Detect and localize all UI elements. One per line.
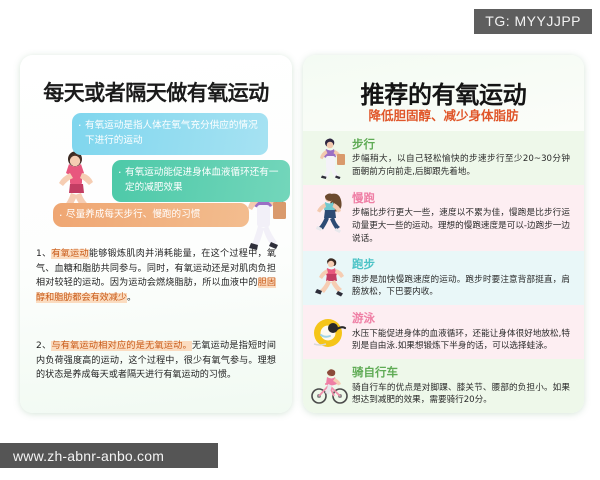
- right-card-subtitle: 降低胆固醇、减少身体脂肪: [303, 105, 584, 124]
- body-text: 。: [127, 293, 136, 303]
- exercise-name: 步行: [352, 138, 574, 151]
- exercise-item[interactable]: 游泳水压下能促进身体的血液循环，还能让身体很好地放松,特别是自由泳.如果想锻炼下…: [303, 305, 584, 359]
- exercise-text-block: 跑步跑步是加快慢跑速度的运动。跑步时要注意背部挺直，肩膀放松，下巴要内收。: [352, 257, 574, 299]
- exercise-description: 骑自行车的优点是对脚踝、膝关节、腰部的负担小。如果想达到减肥的效果，需要骑行20…: [352, 382, 574, 407]
- right-recommendation-card: 推荐的有氧运动 降低胆固醇、减少身体脂肪 步行步幅稍大，以自己轻松愉快的步速步行…: [303, 55, 584, 413]
- paragraph-number: 2、: [36, 341, 51, 351]
- exercise-item[interactable]: 跑步跑步是加快慢跑速度的运动。跑步时要注意背部挺直，肩膀放松，下巴要内收。: [303, 251, 584, 305]
- infographic-canvas: TG: MYYJJPP 每天或者隔天做有氧运动: [0, 0, 600, 480]
- exercise-text-block: 游泳水压下能促进身体的血液循环，还能让身体很好地放松,特别是自由泳.如果想锻炼下…: [352, 311, 574, 353]
- exercise-name: 慢跑: [352, 192, 574, 205]
- exercise-name: 骑自行车: [352, 366, 574, 379]
- exercise-name: 游泳: [352, 312, 574, 325]
- telegram-watermark: TG: MYYJJPP: [474, 9, 592, 34]
- left-card-title: 每天或者隔天做有氧运动: [20, 77, 292, 107]
- walking-icon: [311, 137, 349, 179]
- exercise-description: 跑步是加快慢跑速度的运动。跑步时要注意背部挺直，肩膀放松，下巴要内收。: [352, 274, 574, 299]
- jogging-icon: [311, 191, 349, 233]
- exercise-list: 步行步幅稍大，以自己轻松愉快的步速步行至少20~30分钟面朝前方向前走,后脚跟先…: [303, 131, 584, 413]
- exercise-text-block: 步行步幅稍大，以自己轻松愉快的步速步行至少20~30分钟面朝前方向前走,后脚跟先…: [352, 137, 574, 179]
- exercise-text-block: 慢跑步幅比步行更大一些，速度以不累为佳，慢跑是比步行运动量更大一些的运动。理想的…: [352, 191, 574, 245]
- exercise-text-block: 骑自行车骑自行车的优点是对脚踝、膝关节、腰部的负担小。如果想达到减肥的效果，需要…: [352, 365, 574, 407]
- highlighted-text: 与有氧运动相对应的是无氧运动。: [51, 341, 192, 351]
- bubble-aerobic-definition: 有氧运动是指人体在氧气充分供应的情况下进行的运动: [72, 113, 268, 155]
- bubble-circulation: 有氧运动能促进身体血液循环还有一定的减肥效果: [112, 160, 290, 202]
- site-url-watermark: www.zh-abnr-anbo.com: [0, 443, 218, 468]
- exercise-description: 步幅稍大，以自己轻松愉快的步速步行至少20~30分钟面朝前方向前走,后脚跟先着地…: [352, 153, 574, 178]
- exercise-item[interactable]: 骑自行车骑自行车的优点是对脚踝、膝关节、腰部的负担小。如果想达到减肥的效果，需要…: [303, 359, 584, 413]
- paragraph-anaerobic-contrast: 2、与有氧运动相对应的是无氧运动。无氧运动是指短时间内负荷强度高的运动，这个过程…: [36, 339, 276, 383]
- paragraph-number: 1、: [36, 249, 51, 259]
- cycling-icon: [311, 365, 349, 407]
- highlighted-text: 有氧运动: [51, 249, 88, 259]
- exercise-description: 步幅比步行更大一些，速度以不累为佳，慢跑是比步行运动量更大一些的运动。理想的慢跑…: [352, 207, 574, 245]
- exercise-description: 水压下能促进身体的血液循环，还能让身体很好地放松,特别是自由泳.如果想锻炼下半身…: [352, 328, 574, 353]
- exercise-item[interactable]: 慢跑步幅比步行更大一些，速度以不累为佳，慢跑是比步行运动量更大一些的运动。理想的…: [303, 185, 584, 251]
- exercise-name: 跑步: [352, 258, 574, 271]
- swimming-icon: [311, 311, 349, 353]
- left-info-card: 每天或者隔天做有氧运动: [20, 55, 292, 413]
- running-icon: [311, 257, 349, 299]
- exercise-item[interactable]: 步行步幅稍大，以自己轻松愉快的步速步行至少20~30分钟面朝前方向前走,后脚跟先…: [303, 131, 584, 185]
- bubble-habit: 尽量养成每天步行、慢跑的习惯: [53, 203, 249, 227]
